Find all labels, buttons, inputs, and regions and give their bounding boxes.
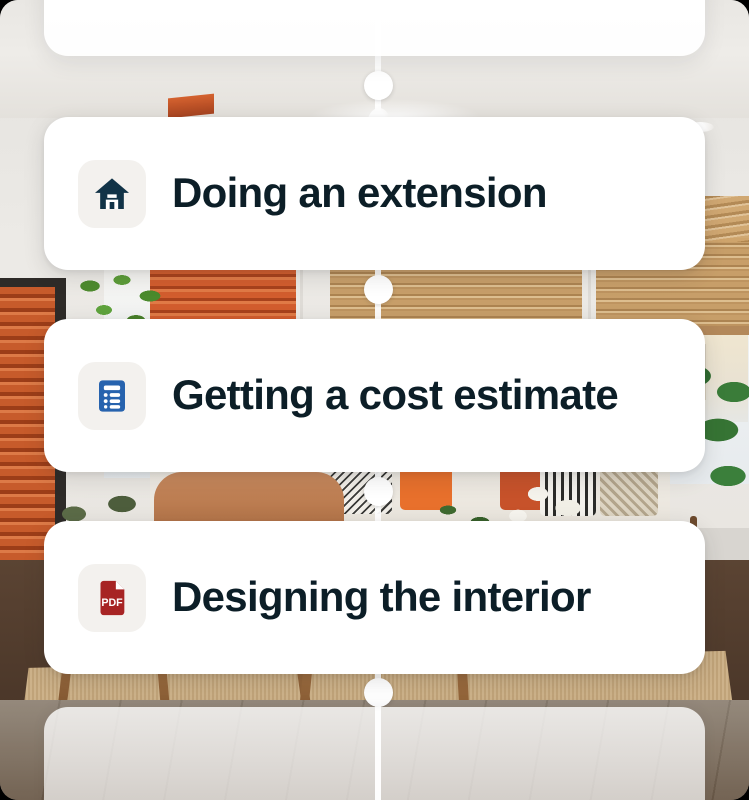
pdf-file-icon: PDF: [78, 564, 146, 632]
timeline-card-partial-bottom[interactable]: [44, 707, 705, 800]
app-frame: Doing an extension Getting a cost estima…: [0, 0, 749, 800]
timeline-dot-0[interactable]: [364, 71, 393, 100]
timeline-dot-1[interactable]: [364, 275, 393, 304]
timeline-card-designing-the-interior[interactable]: PDF Designing the interior: [44, 521, 705, 674]
timeline-card-partial-top[interactable]: [44, 0, 705, 56]
timeline-dot-3[interactable]: [364, 678, 393, 707]
clipboard-list-icon: [78, 362, 146, 430]
timeline-card-label: Getting a cost estimate: [172, 373, 618, 417]
timeline-dot-2[interactable]: [364, 477, 393, 506]
timeline-card-label: Designing the interior: [172, 575, 591, 619]
timeline-card-label: Doing an extension: [172, 171, 547, 215]
home-icon: [78, 160, 146, 228]
timeline-card-doing-an-extension[interactable]: Doing an extension: [44, 117, 705, 270]
timeline-card-getting-a-cost-estimate[interactable]: Getting a cost estimate: [44, 319, 705, 472]
svg-text:PDF: PDF: [101, 597, 123, 609]
